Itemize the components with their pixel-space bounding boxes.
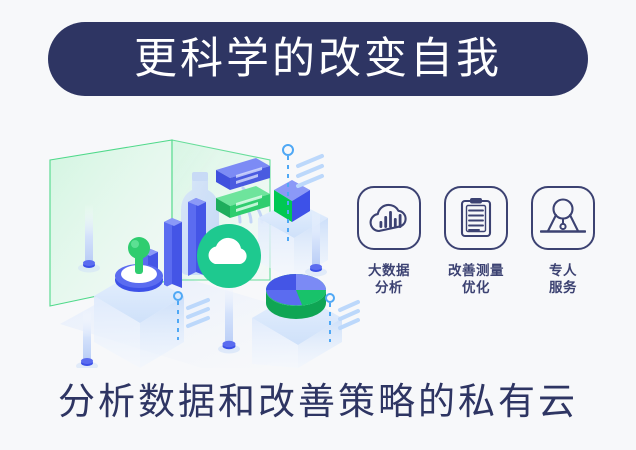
feature-list: 大数据 分析 改善测量 优化 [352,186,600,296]
customer-service-person-icon-frame [531,186,595,250]
cloud-bar-chart-icon-frame [357,186,421,250]
footer-tagline: 分析数据和改善策略的私有云 [0,382,636,423]
footer-tagline-wrap: 分析数据和改善策略的私有云 [0,382,636,423]
poster-canvas: 更科学的改变自我 [0,0,636,450]
clipboard-lines-icon-frame [444,186,508,250]
clipboard-lines-icon [457,197,495,239]
feature-item-big-data-analysis[interactable]: 大数据 分析 [352,186,426,296]
banner-title: 更科学的改变自我 [134,38,502,81]
feature-item-measure-optimize[interactable]: 改善测量 优化 [439,186,513,296]
pie-chart-3d [266,274,326,319]
feature-label-big-data-analysis: 大数据 分析 [368,262,410,296]
feature-label-measure-optimize: 改善测量 优化 [448,262,504,296]
feature-item-dedicated-service[interactable]: 专人 服务 [526,186,600,296]
customer-service-person-icon [540,197,586,239]
feature-label-dedicated-service: 专人 服务 [549,262,577,296]
cloud-bar-chart-icon [368,200,410,236]
header-banner: 更科学的改变自我 [48,22,588,96]
hero-illustration [40,128,360,368]
